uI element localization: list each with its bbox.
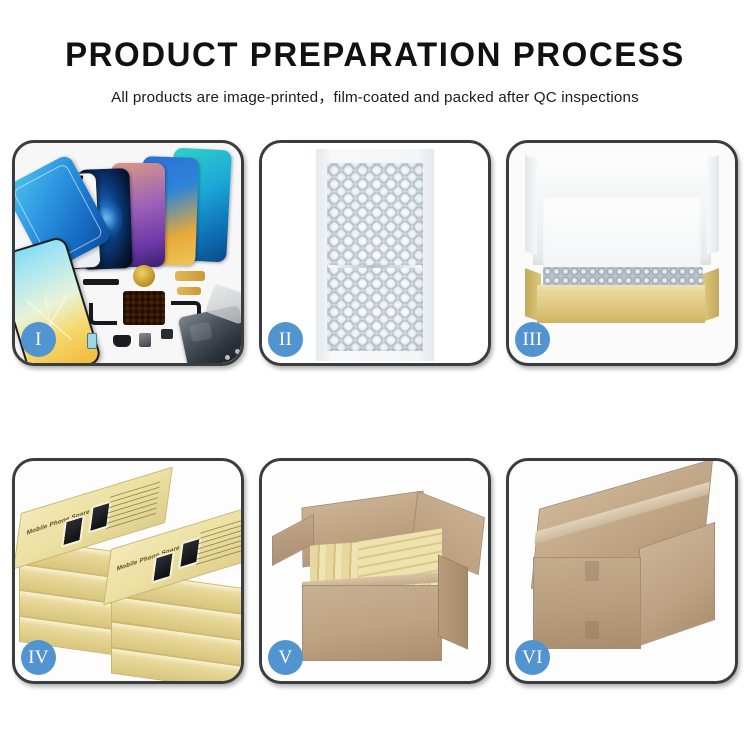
inner-box-front — [537, 293, 705, 323]
inner-box-lid-right-flap — [707, 155, 719, 254]
bubble-wrap-bag — [316, 149, 434, 361]
step-badge-6: VI — [515, 640, 550, 675]
step-badge-2: II — [268, 322, 303, 357]
step-badge-5: V — [268, 640, 303, 675]
screw-part-b — [235, 349, 240, 354]
sim-tray-part — [87, 333, 97, 349]
process-step-panel-5[interactable]: V — [259, 458, 491, 684]
inner-box-right-side — [703, 268, 719, 322]
bubble-wrap-seam — [328, 265, 422, 268]
step-badge-4: IV — [21, 640, 56, 675]
screw-set-part — [123, 291, 165, 325]
page-header: PRODUCT PREPARATION PROCESS All products… — [0, 0, 750, 107]
ic-chip-part — [161, 329, 173, 339]
camera-module-part — [139, 333, 151, 347]
box-spec-lines-upper — [105, 481, 160, 532]
flex-cable-part-b — [177, 287, 201, 295]
process-step-panel-1[interactable]: I — [12, 140, 244, 366]
speaker-part — [113, 335, 131, 347]
retail-box-stack: Mobile Phone Spare Parts Mobile Phone Sp… — [15, 475, 241, 671]
process-step-panel-6[interactable]: VI — [506, 458, 738, 684]
screw-part-a — [225, 355, 230, 360]
carton-front-face — [302, 585, 442, 661]
process-step-panel-4[interactable]: Mobile Phone Spare Parts Mobile Phone Sp… — [12, 458, 244, 684]
foam-sheet — [543, 195, 701, 267]
carton-handle-notch-bottom — [585, 621, 599, 639]
process-step-grid: I II — [12, 140, 738, 684]
spare-parts-group — [75, 263, 241, 363]
step-badge-1: I — [21, 322, 56, 357]
flex-cable-part-a — [175, 271, 205, 281]
bubble-wrap-texture — [327, 163, 423, 351]
ribbon-cable-part-a — [89, 303, 117, 325]
process-step-panel-3[interactable]: III — [506, 140, 738, 366]
antenna-strip-part — [83, 279, 119, 285]
page-subtitle: All products are image-printed，film-coat… — [0, 85, 750, 107]
box-spec-lines-lower — [195, 517, 241, 568]
step-badge-3: III — [515, 322, 550, 357]
carton-handle-notch-top — [585, 561, 599, 581]
carton-right-face — [438, 554, 468, 649]
wireless-coil-part — [133, 265, 155, 287]
page-title: PRODUCT PREPARATION PROCESS — [11, 38, 739, 72]
process-step-panel-2[interactable]: II — [259, 140, 491, 366]
inner-box-lid-left-flap — [525, 155, 537, 254]
page-root: PRODUCT PREPARATION PROCESS All products… — [0, 0, 750, 750]
